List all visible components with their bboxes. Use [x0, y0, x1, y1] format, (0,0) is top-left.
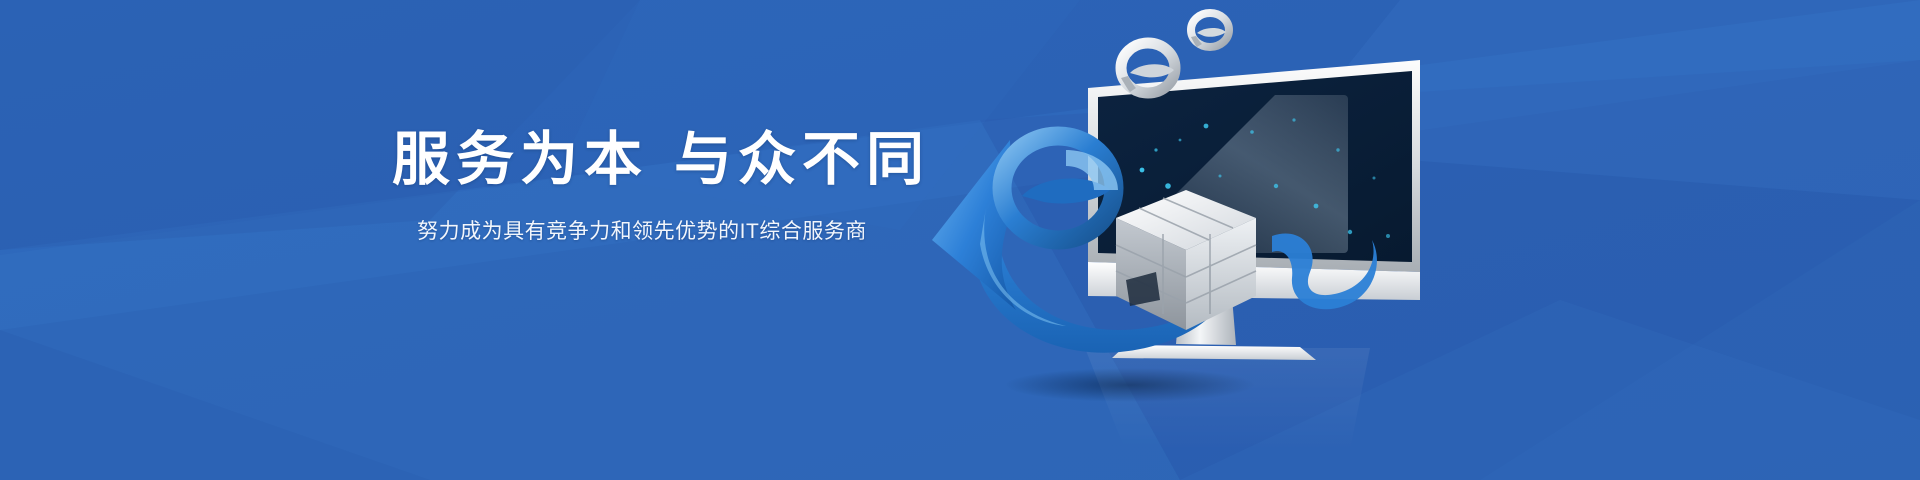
banner-copy: 服务为本与众不同 努力成为具有竞争力和领先优势的IT综合服务商	[392, 128, 892, 245]
banner-subtitle: 努力成为具有竞争力和领先优势的IT综合服务商	[392, 215, 892, 245]
banner-headline: 服务为本与众不同	[392, 128, 892, 193]
monitor-reflection	[1085, 348, 1370, 450]
e-logo-large	[1002, 136, 1118, 240]
headline-part-2: 与众不同	[674, 127, 930, 192]
e-logo-small	[1191, 13, 1229, 47]
hero-artwork	[880, 0, 1420, 480]
hero-banner: 服务为本与众不同 努力成为具有竞争力和领先优势的IT综合服务商	[0, 0, 1920, 480]
headline-part-1: 服务为本	[392, 127, 648, 192]
rubiks-cube	[1116, 190, 1256, 330]
